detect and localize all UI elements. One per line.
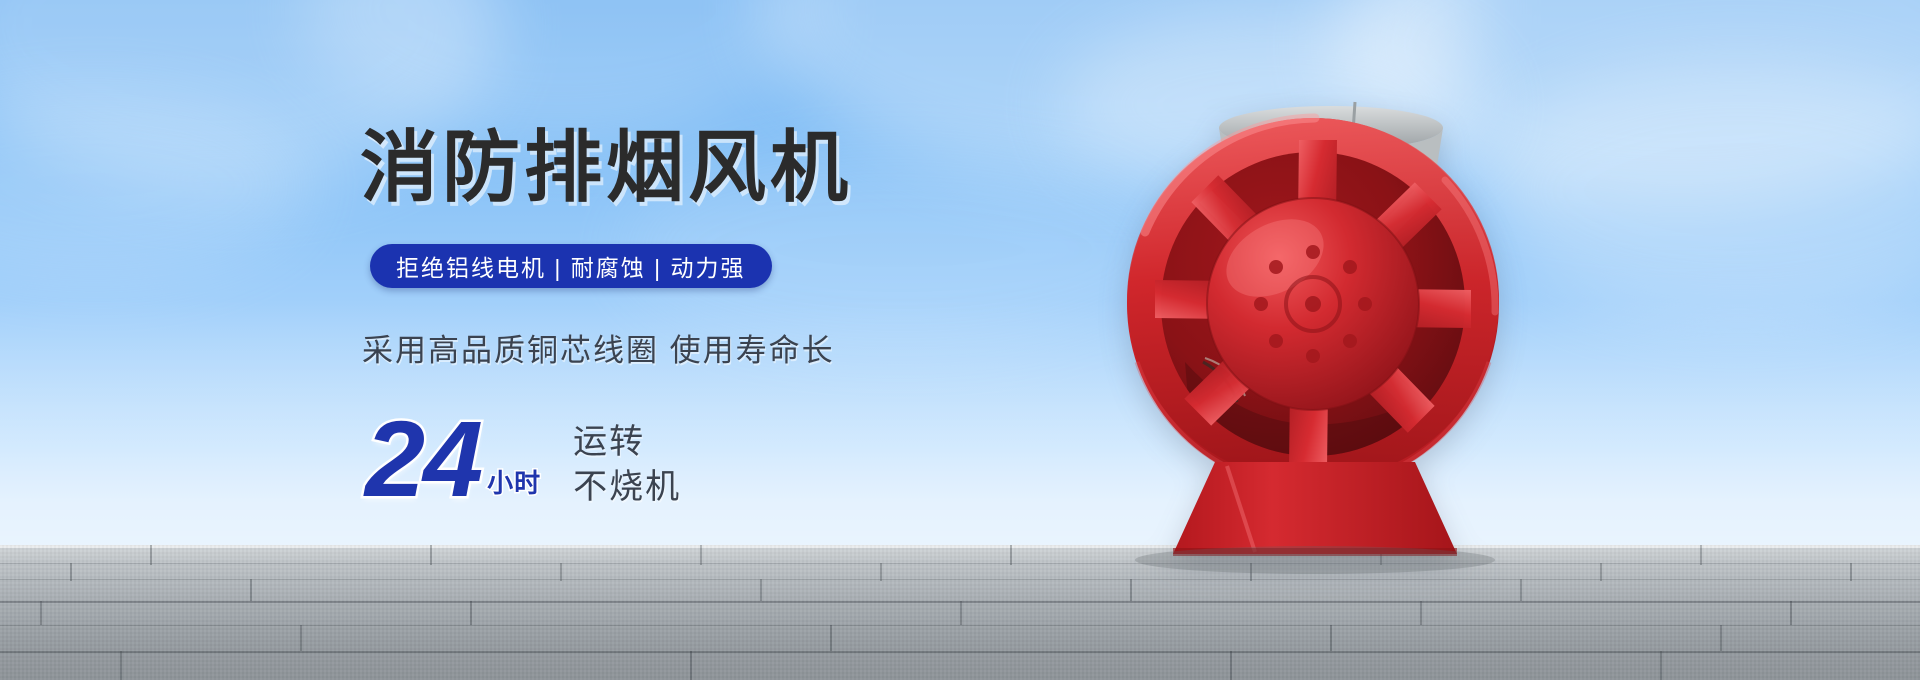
uptime-highlight: 24 小时 运转 不烧机 bbox=[365, 398, 681, 508]
paving-seam bbox=[1700, 545, 1702, 565]
uptime-number: 24 bbox=[365, 409, 481, 508]
uptime-claim-line-1: 运转 bbox=[573, 425, 681, 461]
paving-seam bbox=[1850, 563, 1852, 581]
paving-seam bbox=[1230, 651, 1232, 680]
uptime-claim-lines: 运转 不烧机 bbox=[573, 425, 681, 506]
paving-seam bbox=[1330, 625, 1332, 651]
product-image-axial-fan bbox=[1085, 62, 1545, 622]
fan-base-pedestal bbox=[1173, 462, 1457, 556]
paving-seam bbox=[1720, 625, 1722, 651]
uptime-unit: 小时 bbox=[487, 463, 541, 500]
page-title: 消防排烟风机 bbox=[360, 128, 852, 206]
promo-banner: 消防排烟风机 拒绝铝线电机 | 耐腐蚀 | 动力强 采用高品质铜芯线圈 使用寿命… bbox=[0, 0, 1920, 680]
paving-seam bbox=[1600, 563, 1602, 581]
paving-seam bbox=[1660, 651, 1662, 680]
paving-seam bbox=[1010, 545, 1012, 565]
axial-fan-illustration bbox=[1085, 62, 1545, 622]
fan-hub bbox=[1207, 198, 1419, 410]
uptime-claim-line-2: 不烧机 bbox=[573, 470, 681, 506]
feature-badge[interactable]: 拒绝铝线电机 | 耐腐蚀 | 动力强 bbox=[370, 244, 772, 288]
cloud-wisp bbox=[1480, 60, 1920, 320]
paving-seam bbox=[1790, 601, 1792, 625]
headline-copy-block: 消防排烟风机 拒绝铝线电机 | 耐腐蚀 | 动力强 采用高品质铜芯线圈 使用寿命… bbox=[0, 0, 980, 680]
subtitle-text: 采用高品质铜芯线圈 使用寿命长 bbox=[362, 325, 835, 370]
